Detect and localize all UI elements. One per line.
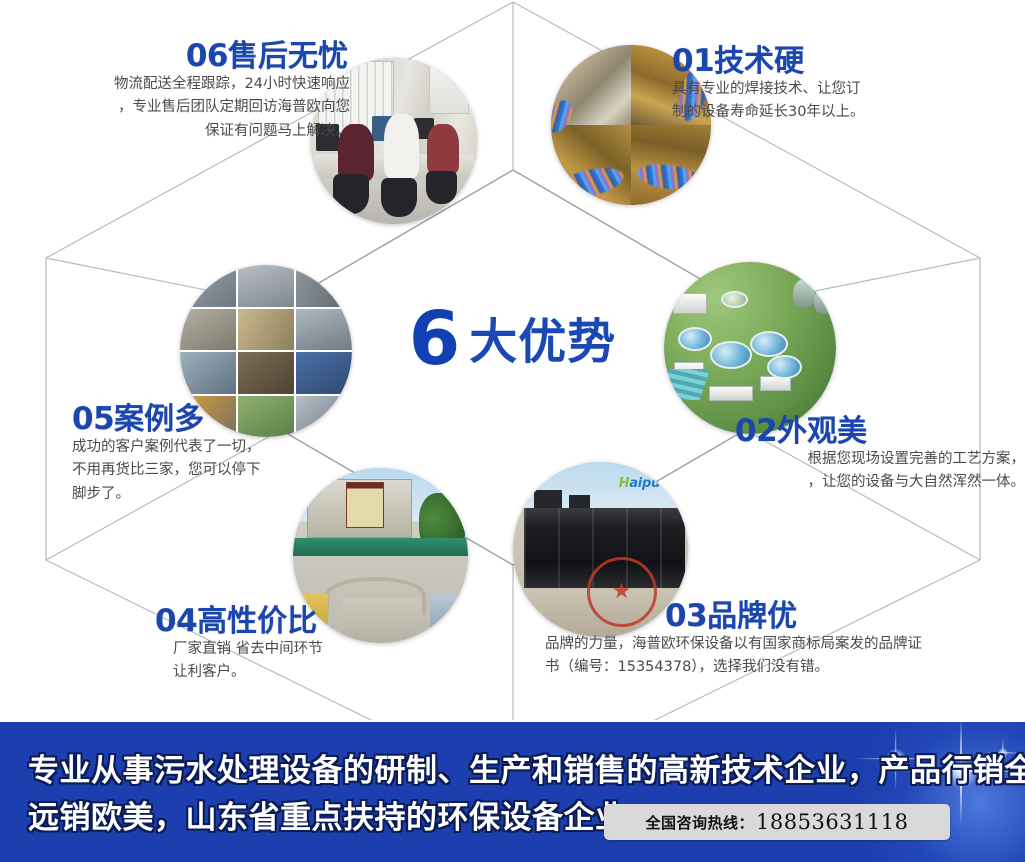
advantage-block-04: 04高性价比 厂家直销 省去中间环节 让利客户。: [155, 605, 475, 685]
advantage-title-text-01: 技术硬: [714, 44, 804, 79]
advantage-title-06: 06售后无忧: [10, 40, 350, 73]
desc-line: 品牌的力量，海普欧环保设备以有国家商标局案发的品牌证: [545, 633, 1015, 656]
advantage-number-02: 02: [735, 413, 777, 449]
advantage-desc-06: 物流配送全程跟踪，24小时快速响应 ，专业售后团队定期回访海普欧向您 保证有问题…: [10, 73, 350, 143]
desc-line: 成功的客户案例代表了一切，: [72, 436, 392, 459]
hotline-badge[interactable]: 全国咨询热线： 18853631118: [604, 804, 950, 840]
advantage-block-03: 03品牌优 品牌的力量，海普欧环保设备以有国家商标局案发的品牌证 书（编号：15…: [545, 600, 1015, 680]
desc-line: 制的设备寿命延长30年以上。: [672, 101, 1012, 124]
desc-line: ，专业售后团队定期回访海普欧向您: [10, 96, 350, 119]
banner-slogan-line-1: 专业从事污水处理设备的研制、生产和销售的高新技术企业，产品行销全国并: [28, 748, 908, 795]
advantage-desc-05: 成功的客户案例代表了一切， 不用再货比三家，您可以停下 脚步了。: [72, 436, 392, 506]
advantage-title-text-04: 高性价比: [197, 604, 317, 639]
desc-line: 厂家直销 省去中间环节: [173, 638, 475, 661]
advantage-block-05: 05案例多 成功的客户案例代表了一切， 不用再货比三家，您可以停下 脚步了。: [72, 403, 392, 506]
advantage-desc-03: 品牌的力量，海普欧环保设备以有国家商标局案发的品牌证 书（编号：15354378…: [545, 633, 1015, 680]
hotline-number: 18853631118: [756, 810, 908, 834]
center-headline: 6大优势: [0, 302, 1025, 376]
desc-line: 让利客户。: [173, 661, 475, 684]
desc-line: ，让您的设备与大自然浑然一体。: [735, 471, 1025, 494]
advantage-desc-04: 厂家直销 省去中间环节 让利客户。: [155, 638, 475, 685]
desc-line: 具有专业的焊接技术、让您订: [672, 78, 1012, 101]
advantage-desc-01: 具有专业的焊接技术、让您订 制的设备寿命延长30年以上。: [672, 78, 1012, 125]
advantage-block-01: 01技术硬 具有专业的焊接技术、让您订 制的设备寿命延长30年以上。: [672, 45, 1012, 125]
advantage-title-01: 01技术硬: [672, 45, 1012, 78]
advantage-number-05: 05: [72, 401, 114, 437]
advantage-title-04: 04高性价比: [155, 605, 475, 638]
advantage-title-text-06: 售后无忧: [228, 39, 348, 74]
advantage-title-05: 05案例多: [72, 403, 392, 436]
advantage-desc-02: 根据您现场设置完善的工艺方案， ，让您的设备与大自然浑然一体。: [735, 448, 1025, 495]
center-suffix: 大优势: [469, 314, 616, 370]
desc-line: 保证有问题马上解决。: [10, 120, 350, 143]
advantage-title-text-05: 案例多: [114, 402, 204, 437]
advantage-title-text-02: 外观美: [777, 414, 867, 449]
advantage-number-03: 03: [665, 598, 707, 634]
bottom-banner: 专业从事污水处理设备的研制、生产和销售的高新技术企业，产品行销全国并 远销欧美，…: [0, 722, 1025, 862]
advantage-title-03: 03品牌优: [545, 600, 1015, 633]
advantage-title-text-03: 品牌优: [707, 599, 797, 634]
desc-line: 不用再货比三家，您可以停下: [72, 459, 392, 482]
advantage-number-06: 06: [186, 38, 228, 74]
desc-line: 根据您现场设置完善的工艺方案，: [735, 448, 1025, 471]
advantage-block-06: 06售后无忧 物流配送全程跟踪，24小时快速响应 ，专业售后团队定期回访海普欧向…: [10, 40, 350, 143]
advantage-number-04: 04: [155, 603, 197, 639]
advantage-title-02: 02外观美: [735, 415, 1025, 448]
desc-line: 书（编号：15354378），选择我们没有错。: [545, 656, 1015, 679]
desc-line: 脚步了。: [72, 483, 392, 506]
hotline-label: 全国咨询热线：: [646, 812, 755, 833]
haipuou-logo-watermark: Haipuou: [619, 476, 678, 491]
center-number: 6: [409, 296, 460, 382]
desc-line: 物流配送全程跟踪，24小时快速响应: [10, 73, 350, 96]
advantage-number-01: 01: [672, 43, 714, 79]
advantage-block-02: 02外观美 根据您现场设置完善的工艺方案， ，让您的设备与大自然浑然一体。: [735, 415, 1025, 495]
infographic-canvas: Haipuou ★ 6大优势: [0, 0, 1025, 862]
